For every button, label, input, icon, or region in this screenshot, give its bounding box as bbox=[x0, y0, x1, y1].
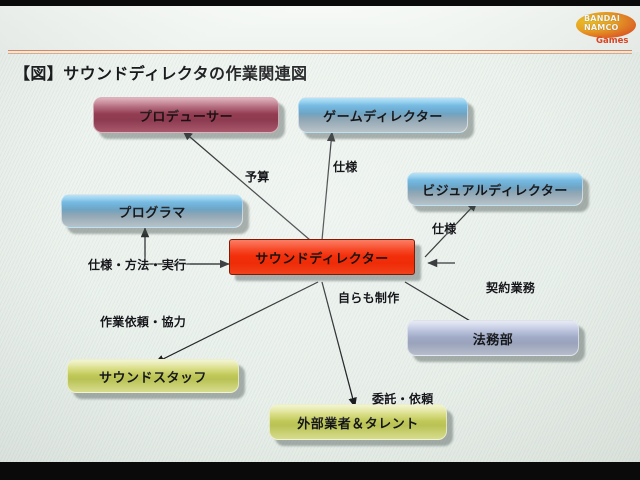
node-label: プログラマ bbox=[118, 202, 186, 221]
slide-photo: BANDAI NAMCO Games 【図】サウンドディレクタの作業関連図 bbox=[0, 0, 640, 480]
node-programmer[interactable]: プログラマ bbox=[61, 194, 243, 228]
node-visual-director[interactable]: ビジュアルディレクター bbox=[407, 172, 583, 206]
edge-label-sound-staff: 作業依頼・協力 bbox=[100, 313, 186, 330]
node-sound-director[interactable]: サウンドディレクター bbox=[229, 239, 415, 275]
node-label: 外部業者＆タレント bbox=[297, 413, 419, 432]
node-sound-staff[interactable]: サウンドスタッフ bbox=[67, 359, 239, 393]
edge-label-producer: 予算 bbox=[245, 168, 270, 185]
edge-label-game-director: 仕様 bbox=[333, 158, 358, 175]
node-label: 法務部 bbox=[473, 329, 514, 348]
edge-line-game-director bbox=[322, 132, 332, 240]
node-label: サウンドディレクター bbox=[255, 248, 389, 267]
presentation-slide: BANDAI NAMCO Games 【図】サウンドディレクタの作業関連図 bbox=[0, 6, 640, 462]
node-label: プロデューサー bbox=[139, 106, 233, 125]
node-label: ゲームディレクター bbox=[323, 106, 443, 125]
node-label: サウンドスタッフ bbox=[99, 367, 207, 386]
edge-label-external: 委託・依頼 bbox=[372, 390, 434, 407]
node-producer[interactable]: プロデューサー bbox=[93, 97, 279, 133]
edge-label-visual-director: 仕様 bbox=[432, 220, 457, 237]
node-label: ビジュアルディレクター bbox=[422, 180, 568, 199]
node-external[interactable]: 外部業者＆タレント bbox=[269, 404, 447, 440]
node-legal[interactable]: 法務部 bbox=[407, 320, 579, 356]
edge-label-self-production: 自らも制作 bbox=[338, 289, 400, 306]
edge-label-legal: 契約業務 bbox=[486, 279, 535, 296]
edge-label-programmer: 仕様・方法・実行 bbox=[88, 256, 186, 273]
node-game-director[interactable]: ゲームディレクター bbox=[298, 97, 468, 133]
diagram-canvas: プロデューサー ゲームディレクター ビジュアルディレクター プログラマ サウンド… bbox=[0, 6, 640, 462]
